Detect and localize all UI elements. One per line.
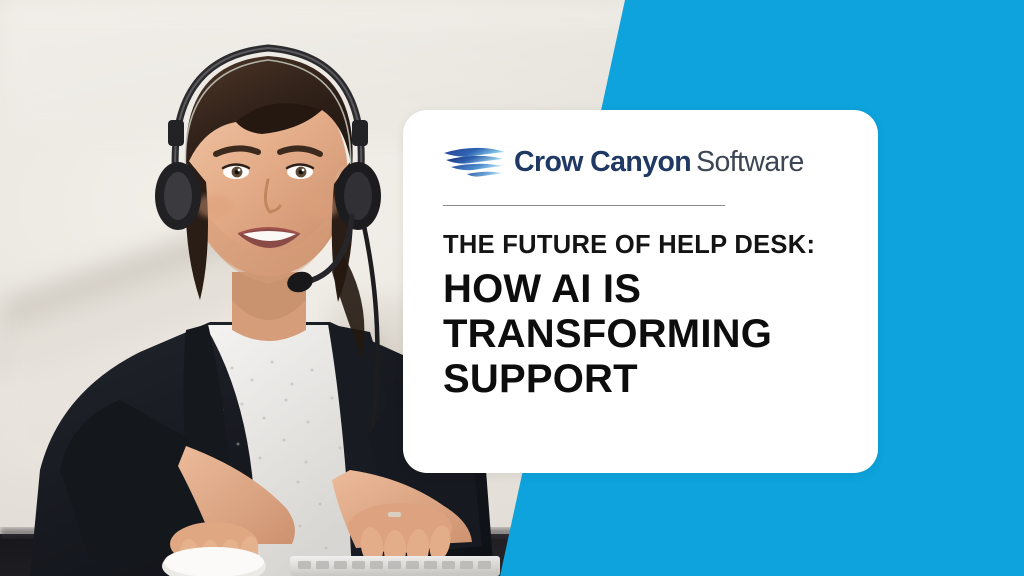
logo: Crow CanyonSoftware <box>443 142 840 182</box>
content-card: Crow CanyonSoftware THE FUTURE OF HELP D… <box>403 110 878 473</box>
crow-canyon-wing-logo-icon <box>443 145 505 179</box>
logo-wordmark: Crow CanyonSoftware <box>514 148 804 177</box>
headline-line-2: TRANSFORMING <box>443 312 840 357</box>
headline-main: HOW AI IS TRANSFORMING SUPPORT <box>443 267 840 401</box>
logo-brand-text: Crow Canyon <box>514 146 691 178</box>
headline-line-3: SUPPORT <box>443 357 840 402</box>
logo-divider <box>443 205 725 206</box>
banner-root: Crow CanyonSoftware THE FUTURE OF HELP D… <box>0 0 1024 576</box>
headline-line-1: HOW AI IS <box>443 267 840 312</box>
headline-block: THE FUTURE OF HELP DESK: HOW AI IS TRANS… <box>443 232 840 401</box>
logo-product-text: Software <box>696 146 804 178</box>
headline-eyebrow: THE FUTURE OF HELP DESK: <box>443 232 840 259</box>
